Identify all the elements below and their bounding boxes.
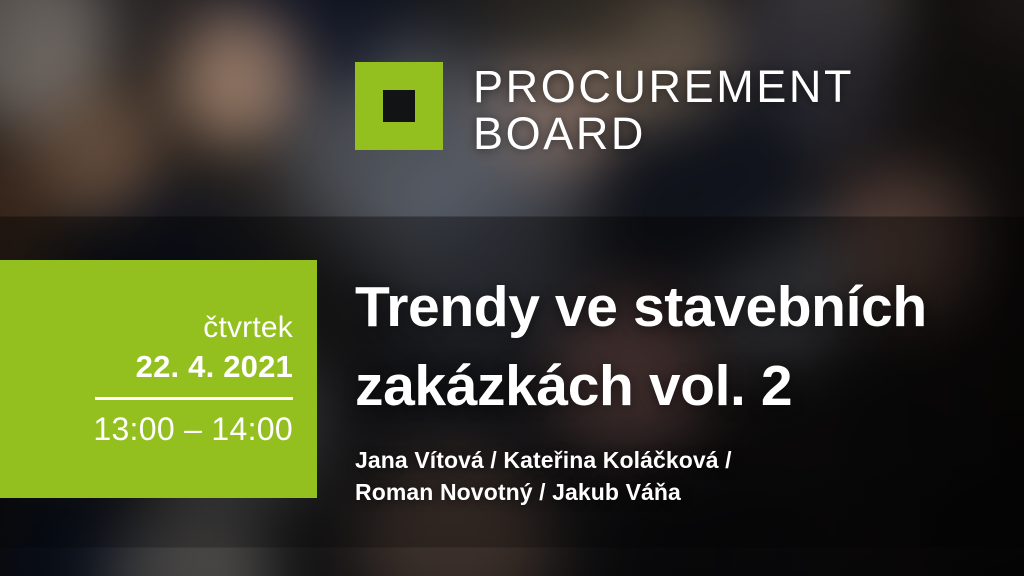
brand-wordmark: PROCUREMENT BOARD xyxy=(473,62,854,157)
event-date: 22. 4. 2021 xyxy=(136,347,293,387)
panel-divider xyxy=(95,397,293,400)
event-time: 13:00 – 14:00 xyxy=(93,409,293,449)
green-square-with-dark-center-icon xyxy=(355,62,443,150)
event-title: Trendy ve stavebních zakázkách vol. 2 xyxy=(355,268,1010,426)
event-title-line-1: Trendy ve stavebních xyxy=(355,268,1010,347)
event-details: Trendy ve stavebních zakázkách vol. 2 Ja… xyxy=(355,268,1010,508)
event-banner: PROCUREMENT BOARD čtvrtek 22. 4. 2021 13… xyxy=(0,0,1024,576)
logo-inner-square xyxy=(383,90,415,122)
date-time-panel: čtvrtek 22. 4. 2021 13:00 – 14:00 xyxy=(0,260,317,498)
event-title-line-2: zakázkách vol. 2 xyxy=(355,347,1010,426)
brand-wordmark-line-1: PROCUREMENT xyxy=(473,63,854,110)
event-weekday: čtvrtek xyxy=(203,309,293,347)
event-speakers-line-2: Roman Novotný / Jakub Váňa xyxy=(355,476,1010,508)
brand-wordmark-line-2: BOARD xyxy=(473,110,854,157)
event-speakers-line-1: Jana Vítová / Kateřina Koláčková / xyxy=(355,444,1010,476)
brand-logo: PROCUREMENT BOARD xyxy=(355,62,854,157)
event-speakers: Jana Vítová / Kateřina Koláčková / Roman… xyxy=(355,444,1010,508)
